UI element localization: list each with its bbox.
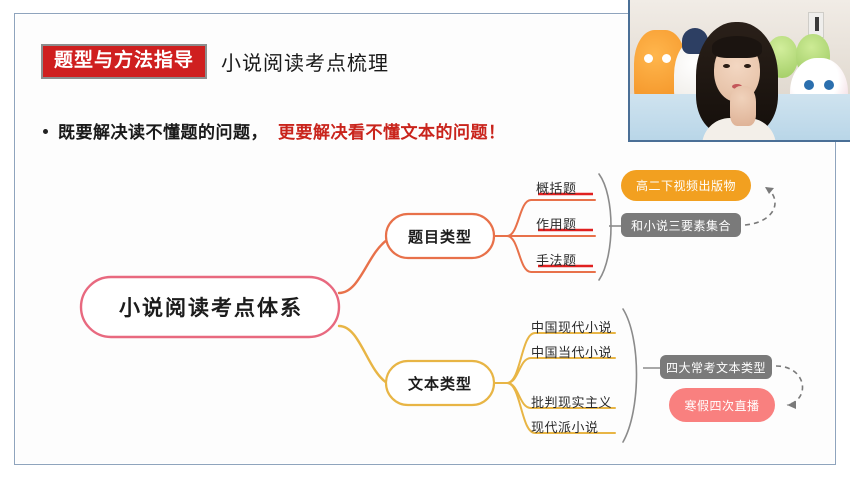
slide-screenshot: 题型与方法指导 小说阅读考点梳理 既要解决读不懂题的问题， 更要解决看不懂文本的… xyxy=(0,0,850,478)
dashed-arrow-top xyxy=(745,187,775,225)
connector-center-to-branch2 xyxy=(339,326,387,383)
bracket-top xyxy=(599,174,611,280)
dashed-arrow-bottom xyxy=(776,366,803,405)
badge-three-elements: 和小说三要素集合 xyxy=(621,213,741,237)
branch1-node-shape xyxy=(386,214,494,258)
presenter-bangs xyxy=(712,36,762,58)
branch2-leaf-line-2 xyxy=(507,358,615,383)
webcam-overlay[interactable] xyxy=(628,0,850,142)
presenter-eye-left xyxy=(723,64,730,68)
branch2-node-shape xyxy=(386,361,494,405)
connector-center-to-branch1 xyxy=(339,240,387,293)
badge-video-publication: 高二下视频出版物 xyxy=(621,170,751,201)
branch2-leaf-line-3 xyxy=(507,383,615,408)
badge-four-text-types: 四大常考文本类型 xyxy=(660,355,772,379)
presenter-hand xyxy=(730,86,756,126)
bracket-bottom xyxy=(623,309,637,442)
presenter-eye-right xyxy=(744,64,751,68)
dashed-arrow-bottom-head xyxy=(787,401,796,409)
badge-winter-livestream: 寒假四次直播 xyxy=(669,388,775,422)
center-node-shape xyxy=(81,277,339,337)
dashed-arrow-top-head xyxy=(765,187,774,194)
